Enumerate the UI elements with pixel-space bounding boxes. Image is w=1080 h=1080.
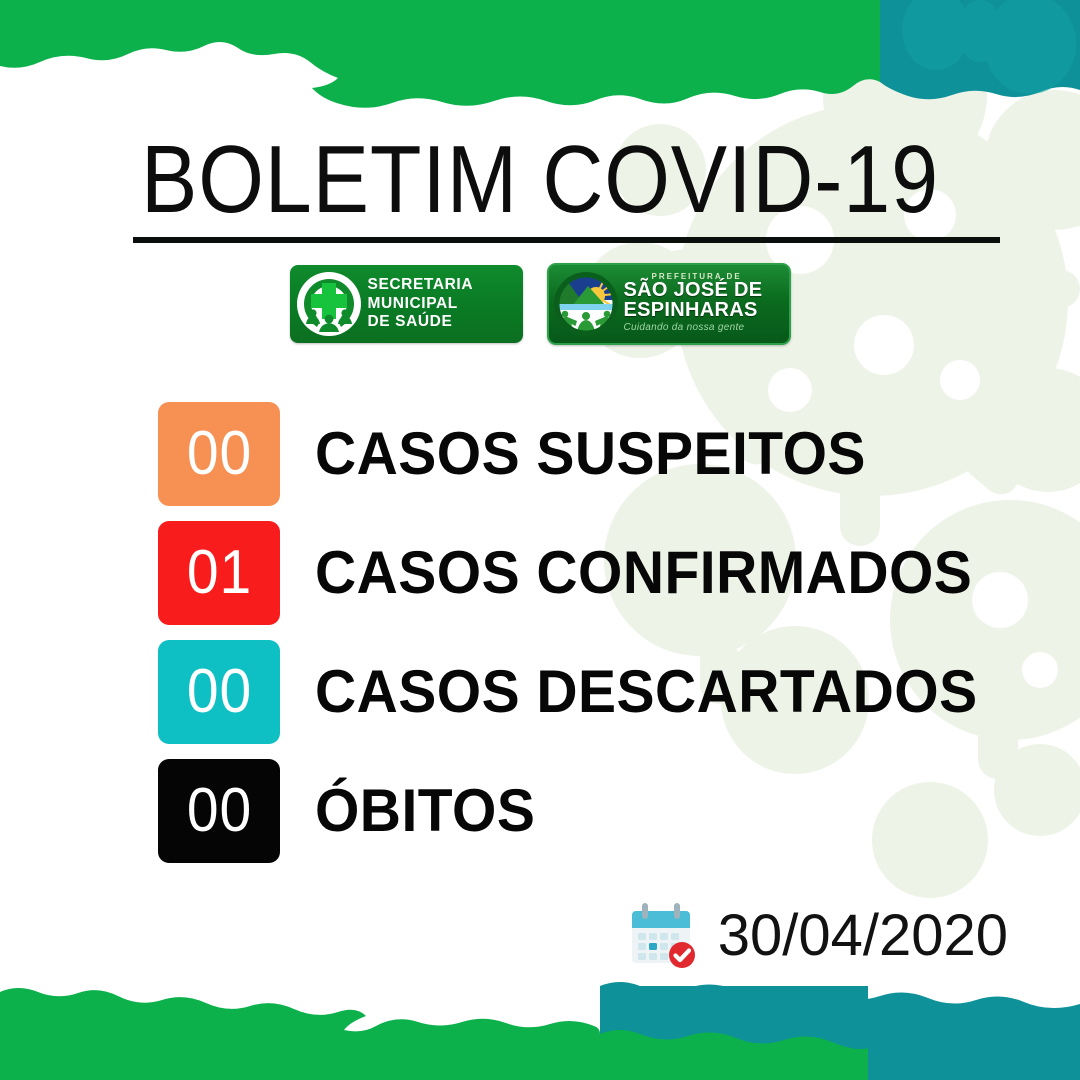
stat-label-obitos: ÓBITOS [315,781,535,841]
city-logo-line-2: ESPINHARAS [624,301,763,321]
city-crest-emblem-icon [552,270,620,338]
page-title: BOLETIM COVID-19 [65,132,1015,228]
stat-badge-confirmados: 01 [158,521,280,625]
calendar-check-icon [624,898,700,974]
prefeitura-sao-jose-de-espinharas-logo: PREFEITURA DE SÃO JOSÉ DE ESPINHARAS Cui… [547,263,791,345]
health-cross-emblem-icon [294,269,364,339]
page-title-block: BOLETIM COVID-19 [0,132,1080,228]
logo-row: SECRETARIA MUNICIPAL DE SAÚDE [0,263,1080,345]
health-logo-text: SECRETARIA MUNICIPAL DE SAÚDE [368,276,474,333]
stat-badge-descartados: 00 [158,640,280,744]
stat-label-descartados: CASOS DESCARTADOS [315,662,978,722]
stat-value-obitos: 00 [186,780,251,842]
statistics-list: 00 CASOS SUSPEITOS 01 CASOS CONFIRMADOS … [158,402,1012,878]
stat-value-suspeitos: 00 [186,423,251,485]
health-logo-line-1: SECRETARIA [368,276,474,295]
bulletin-date: 30/04/2020 [718,907,1008,965]
stat-label-confirmados: CASOS CONFIRMADOS [315,543,972,603]
stat-badge-obitos: 00 [158,759,280,863]
top-decorative-banner [0,0,1080,120]
covid-bulletin-poster: BOLETIM COVID-19 [0,0,1080,1080]
stat-row-descartados: 00 CASOS DESCARTADOS [158,640,1012,744]
city-logo-text: PREFEITURA DE SÃO JOSÉ DE ESPINHARAS Cui… [624,273,763,334]
stat-label-suspeitos: CASOS SUSPEITOS [315,424,866,484]
bulletin-date-row: 30/04/2020 [624,898,1008,974]
stat-value-descartados: 00 [186,661,251,723]
health-logo-line-2: MUNICIPAL [368,295,474,314]
health-logo-line-3: DE SAÚDE [368,313,474,332]
city-logo-tagline: Cuidando da nossa gente [624,321,763,335]
stat-row-obitos: 00 ÓBITOS [158,759,1012,863]
stat-value-confirmados: 01 [186,542,251,604]
bottom-decorative-banner [0,960,1080,1080]
stat-badge-suspeitos: 00 [158,402,280,506]
secretaria-municipal-de-saude-logo: SECRETARIA MUNICIPAL DE SAÚDE [290,265,523,343]
stat-row-confirmados: 01 CASOS CONFIRMADOS [158,521,1012,625]
title-underline [133,237,1000,243]
stat-row-suspeitos: 00 CASOS SUSPEITOS [158,402,1012,506]
